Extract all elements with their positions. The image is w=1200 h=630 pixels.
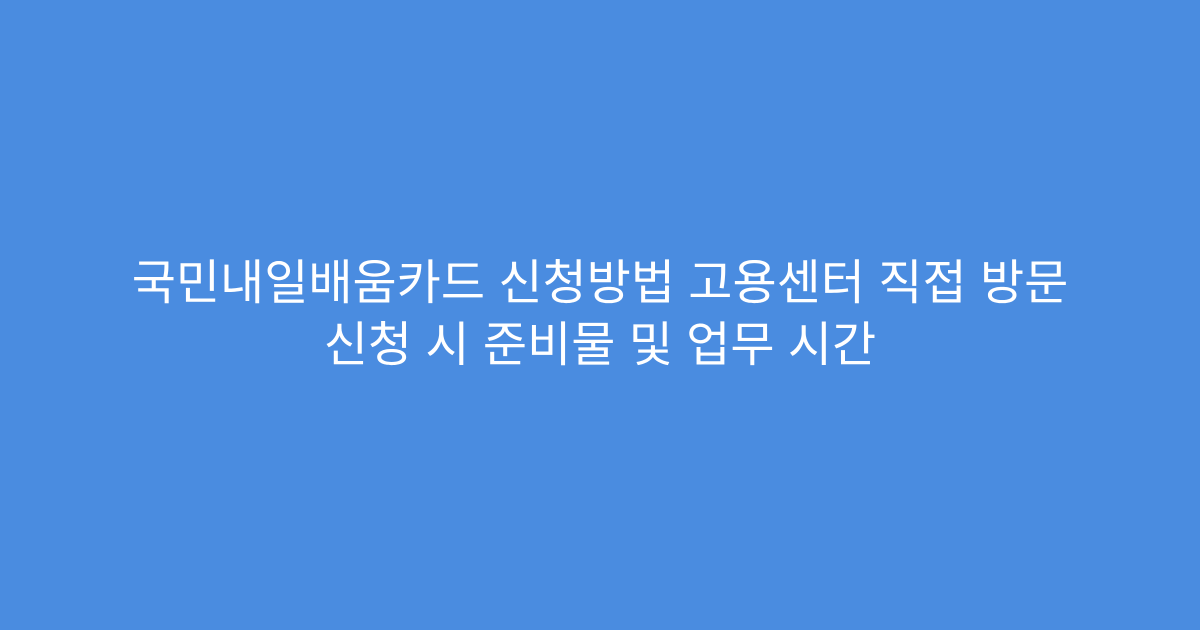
page-title: 국민내일배움카드 신청방법 고용센터 직접 방문 신청 시 준비물 및 업무 시… — [50, 253, 1150, 377]
page-title-line-1: 국민내일배움카드 신청방법 고용센터 직접 방문 — [50, 253, 1150, 315]
page-title-line-2: 신청 시 준비물 및 업무 시간 — [50, 315, 1150, 377]
og-image-card: 국민내일배움카드 신청방법 고용센터 직접 방문 신청 시 준비물 및 업무 시… — [0, 0, 1200, 630]
